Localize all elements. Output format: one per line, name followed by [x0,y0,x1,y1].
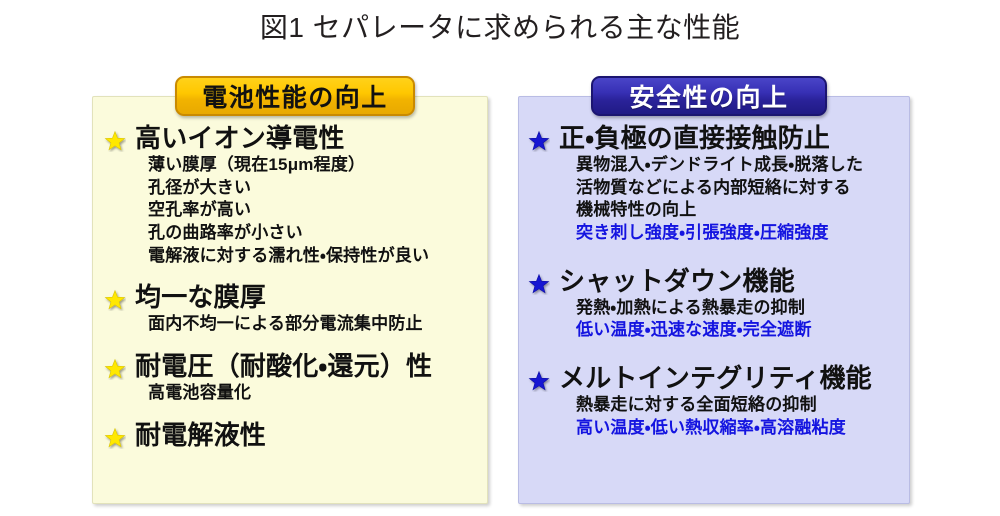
section-header: 高いイオン導電性 [104,124,480,153]
section-detail-list: 異物混入・デンドライト成長・脱落した活物質などによる内部短絡に対する機械特性の向… [576,154,900,244]
section-detail-item: 活物質などによる内部短絡に対する [576,177,900,200]
section-header: 耐電解液性 [104,421,480,450]
section-safety-1: シャットダウン機能発熱・加熱による熱暴走の抑制低い温度・迅速な速度・完全遮断 [528,267,900,342]
battery-performance-header-pill: 電池性能の向上 [175,76,415,116]
section-title: 耐電解液性 [135,421,266,450]
section-detail-list: 高電池容量化 [148,382,480,405]
figure-container: 図1 セパレータに求められる主な性能 電池性能の向上 高いイオン導電性薄い膜厚（… [0,0,1000,516]
section-detail-list: 発熱・加熱による熱暴走の抑制低い温度・迅速な速度・完全遮断 [576,297,900,342]
star-yellow-icon [104,289,126,311]
section-detail-highlight: 高い温度・低い熱収縮率・高溶融粘度 [576,417,900,440]
section-detail-item: 空孔率が高い [148,199,480,222]
section-detail-list: 面内不均一による部分電流集中防止 [148,313,480,336]
star-blue-icon [528,273,550,295]
section-battery-2: 耐電圧（耐酸化・還元）性高電池容量化 [104,352,480,405]
section-detail-item: 面内不均一による部分電流集中防止 [148,313,480,336]
section-title: 高いイオン導電性 [135,124,345,153]
section-detail-list: 熱暴走に対する全面短絡の抑制高い温度・低い熱収縮率・高溶融粘度 [576,394,900,439]
section-detail-item: 機械特性の向上 [576,199,900,222]
section-title: 均一な膜厚 [135,283,266,312]
section-detail-item: 孔径が大きい [148,177,480,200]
section-detail-item: 熱暴走に対する全面短絡の抑制 [576,394,900,417]
section-detail-list: 薄い膜厚（現在15μm程度）孔径が大きい空孔率が高い孔の曲路率が小さい電解液に対… [148,154,480,267]
section-detail-item: 薄い膜厚（現在15μm程度） [148,154,480,177]
section-header: 耐電圧（耐酸化・還元）性 [104,352,480,381]
star-blue-icon [528,370,550,392]
section-detail-item: 電解液に対する濡れ性・保持性が良い [148,245,480,268]
figure-title: 図1 セパレータに求められる主な性能 [0,6,1000,46]
section-title: メルトインテグリティ機能 [559,364,872,393]
safety-header-pill: 安全性の向上 [591,76,827,116]
section-detail-item: 高電池容量化 [148,382,480,405]
section-battery-1: 均一な膜厚面内不均一による部分電流集中防止 [104,283,480,336]
battery-performance-section-list: 高いイオン導電性薄い膜厚（現在15μm程度）孔径が大きい空孔率が高い孔の曲路率が… [104,124,480,466]
star-yellow-icon [104,427,126,449]
section-detail-highlight: 低い温度・迅速な速度・完全遮断 [576,319,900,342]
section-battery-3: 耐電解液性 [104,421,480,450]
star-yellow-icon [104,130,126,152]
section-title: シャットダウン機能 [559,267,795,296]
safety-section-list: 正・負極の直接接触防止異物混入・デンドライト成長・脱落した活物質などによる内部短… [528,124,900,461]
section-detail-item: 発熱・加熱による熱暴走の抑制 [576,297,900,320]
section-battery-0: 高いイオン導電性薄い膜厚（現在15μm程度）孔径が大きい空孔率が高い孔の曲路率が… [104,124,480,267]
section-header: シャットダウン機能 [528,267,900,296]
section-title: 正・負極の直接接触防止 [559,124,830,153]
section-safety-2: メルトインテグリティ機能熱暴走に対する全面短絡の抑制高い温度・低い熱収縮率・高溶… [528,364,900,439]
section-safety-0: 正・負極の直接接触防止異物混入・デンドライト成長・脱落した活物質などによる内部短… [528,124,900,245]
section-header: 均一な膜厚 [104,283,480,312]
star-yellow-icon [104,358,126,380]
section-header: 正・負極の直接接触防止 [528,124,900,153]
section-detail-item: 孔の曲路率が小さい [148,222,480,245]
section-detail-item: 異物混入・デンドライト成長・脱落した [576,154,900,177]
section-detail-highlight: 突き刺し強度・引張強度・圧縮強度 [576,222,900,245]
section-title: 耐電圧（耐酸化・還元）性 [135,352,432,381]
star-blue-icon [528,130,550,152]
section-header: メルトインテグリティ機能 [528,364,900,393]
